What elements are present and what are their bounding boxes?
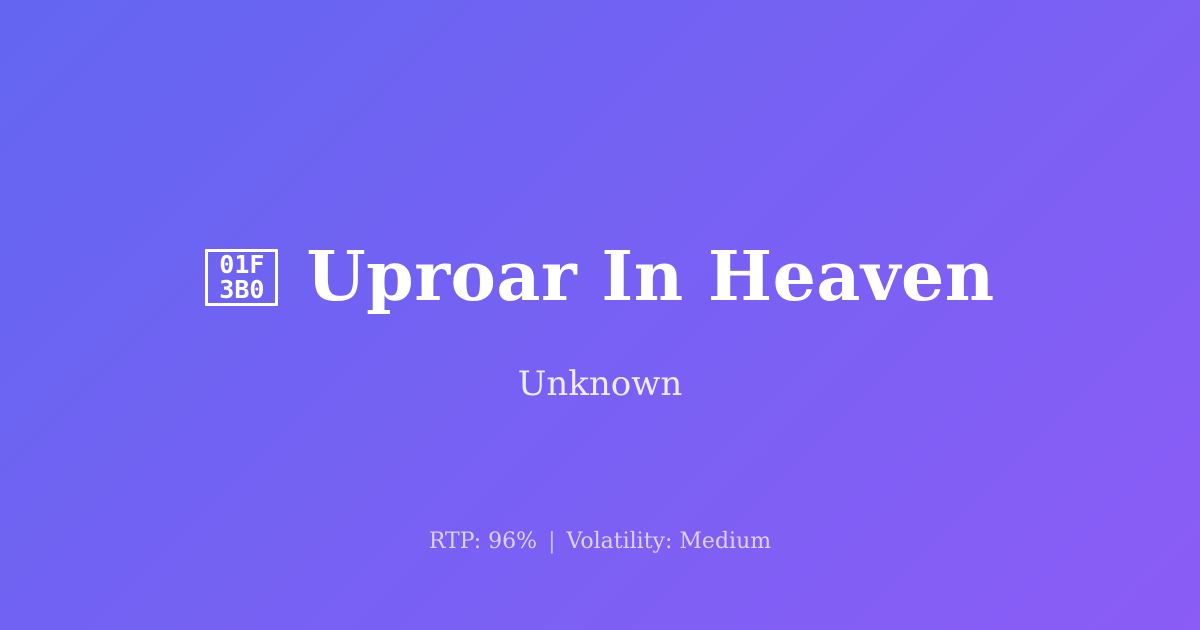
game-title: Uproar In Heaven — [306, 238, 994, 316]
game-stats: RTP: 96% | Volatility: Medium — [0, 527, 1200, 557]
game-provider: Unknown — [0, 362, 1200, 406]
title-row: 01F 3B0 Uproar In Heaven — [0, 232, 1200, 322]
tofu-hex-bottom: 3B0 — [219, 277, 264, 302]
slot-machine-icon: 01F 3B0 — [205, 249, 278, 306]
volatility-value: Medium — [679, 529, 771, 554]
rtp-label: RTP: — [429, 529, 481, 554]
tofu-hex-top: 01F — [219, 252, 264, 277]
game-preview-card: 01F 3B0 Uproar In Heaven Unknown RTP: 96… — [0, 0, 1200, 630]
stats-separator: | — [544, 529, 559, 554]
volatility-label: Volatility: — [567, 529, 673, 554]
rtp-value: 96% — [488, 529, 537, 554]
